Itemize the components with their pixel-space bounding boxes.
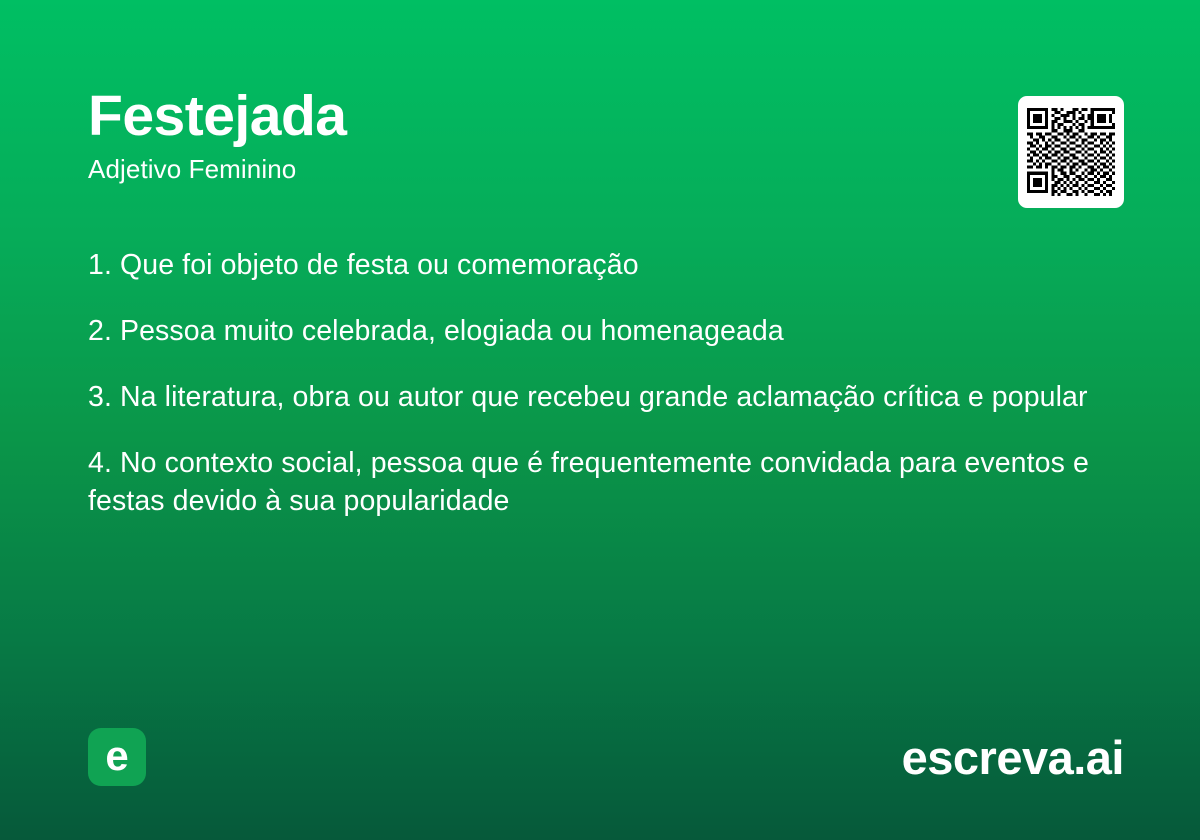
qr-code-card[interactable]: [1018, 96, 1124, 208]
definition-item: 3. Na literatura, obra ou autor que rece…: [88, 378, 1093, 416]
page-title: Festejada: [88, 86, 1112, 146]
brand-logo-letter: e: [105, 735, 128, 777]
definition-item: 1. Que foi objeto de festa ou comemoraçã…: [88, 246, 1093, 284]
card-footer: e escreva.ai: [88, 726, 1124, 788]
definition-list: 1. Que foi objeto de festa ou comemoraçã…: [88, 246, 1093, 520]
dictionary-card: Festejada Adjetivo Feminino 1. Que foi o…: [0, 0, 1200, 840]
brand-logo-icon: e: [88, 728, 146, 786]
word-class-subtitle: Adjetivo Feminino: [88, 154, 1112, 185]
card-header: Festejada Adjetivo Feminino: [88, 86, 1112, 185]
brand-wordmark: escreva.ai: [902, 734, 1124, 781]
definition-item: 2. Pessoa muito celebrada, elogiada ou h…: [88, 312, 1093, 350]
definition-item: 4. No contexto social, pessoa que é freq…: [88, 444, 1093, 520]
qr-code-icon: [1027, 108, 1115, 196]
